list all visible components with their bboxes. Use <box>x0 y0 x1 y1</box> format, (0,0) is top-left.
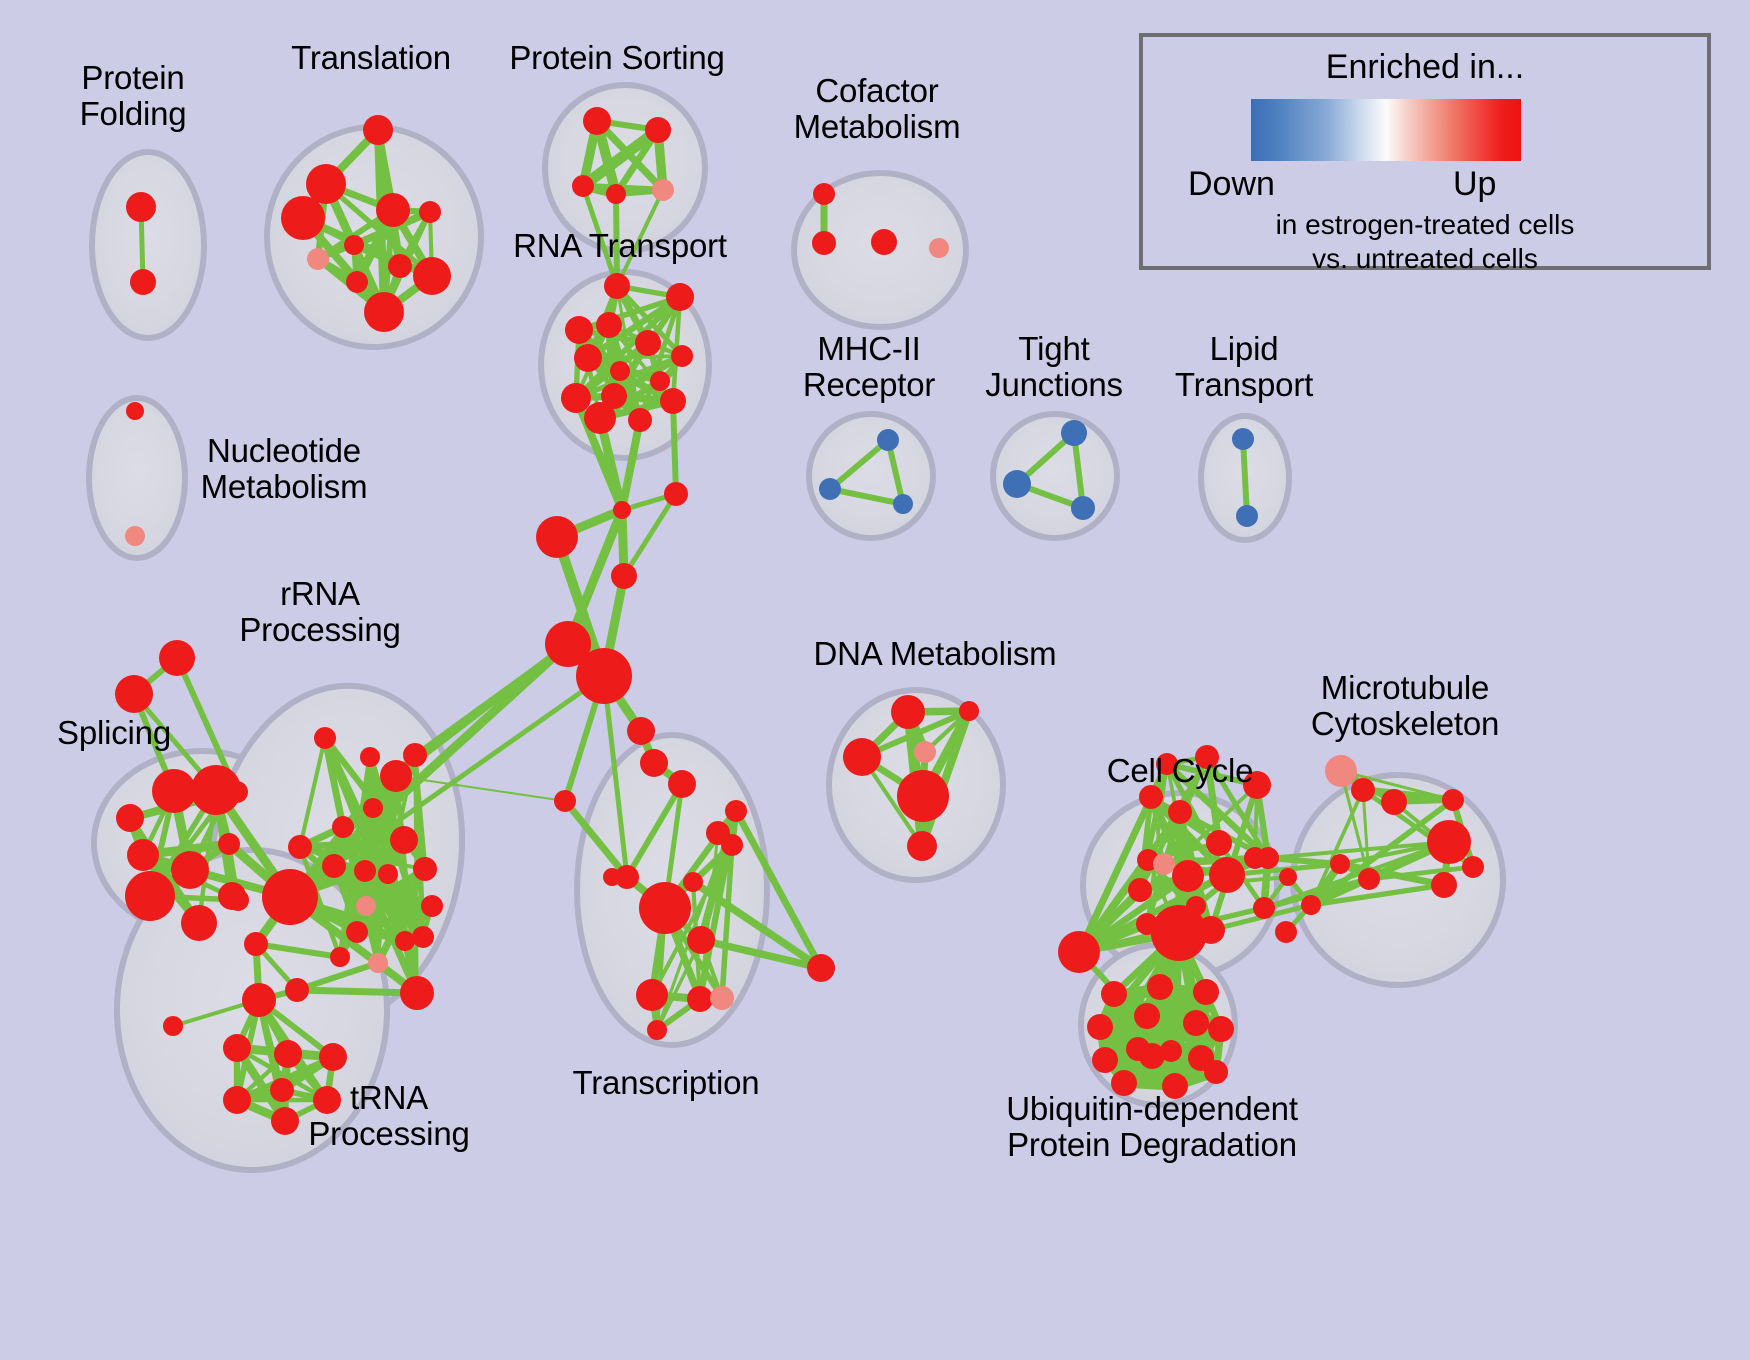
network-node[interactable] <box>554 790 576 812</box>
network-node[interactable] <box>1358 868 1380 890</box>
network-node[interactable] <box>152 769 196 813</box>
network-node[interactable] <box>314 727 336 749</box>
network-node[interactable] <box>288 835 312 859</box>
network-node[interactable] <box>1147 974 1173 1000</box>
network-node[interactable] <box>1111 1070 1137 1096</box>
network-node[interactable] <box>813 183 835 205</box>
network-node[interactable] <box>1427 820 1471 864</box>
network-node[interactable] <box>1126 1037 1150 1061</box>
network-node[interactable] <box>664 482 688 506</box>
network-node[interactable] <box>413 857 437 881</box>
network-node[interactable] <box>363 115 393 145</box>
network-node[interactable] <box>561 383 591 413</box>
network-node[interactable] <box>319 1043 347 1071</box>
cluster-ellipse-protein-sorting <box>545 85 705 251</box>
network-node[interactable] <box>1195 745 1219 769</box>
network-node[interactable] <box>1058 931 1100 973</box>
network-node[interactable] <box>1061 420 1087 446</box>
network-node[interactable] <box>1071 496 1095 520</box>
network-node[interactable] <box>897 770 949 822</box>
network-edge <box>297 990 417 993</box>
network-node[interactable] <box>226 781 248 803</box>
network-node[interactable] <box>1462 856 1484 878</box>
network-node[interactable] <box>891 695 925 729</box>
network-node[interactable] <box>871 229 897 255</box>
network-node[interactable] <box>611 563 637 589</box>
legend-down-label: Down <box>1188 165 1275 204</box>
network-node[interactable] <box>1206 830 1232 856</box>
network-node[interactable] <box>223 1086 251 1114</box>
network-node[interactable] <box>603 868 621 886</box>
network-node[interactable] <box>130 269 156 295</box>
network-node[interactable] <box>647 1020 667 1040</box>
network-node[interactable] <box>413 257 451 295</box>
network-node[interactable] <box>929 238 949 258</box>
network-edge <box>673 401 676 494</box>
network-node[interactable] <box>627 717 655 745</box>
network-node[interactable] <box>660 388 686 414</box>
network-node[interactable] <box>877 429 899 451</box>
network-node[interactable] <box>1442 789 1464 811</box>
network-node[interactable] <box>360 747 380 767</box>
network-node[interactable] <box>171 851 209 889</box>
network-node[interactable] <box>395 931 415 951</box>
network-node[interactable] <box>125 526 145 546</box>
network-node[interactable] <box>1139 785 1163 809</box>
network-edge <box>588 356 682 358</box>
network-node[interactable] <box>819 478 841 500</box>
network-node[interactable] <box>1232 428 1254 450</box>
network-node[interactable] <box>668 770 696 798</box>
network-node[interactable] <box>640 749 668 777</box>
network-node[interactable] <box>322 854 346 878</box>
network-node[interactable] <box>914 741 936 763</box>
network-node[interactable] <box>1301 895 1321 915</box>
network-node[interactable] <box>652 179 674 201</box>
network-node[interactable] <box>650 371 670 391</box>
network-node[interactable] <box>1134 1003 1160 1029</box>
color-gradient-bar <box>1251 99 1521 161</box>
network-node[interactable] <box>565 316 593 344</box>
network-node[interactable] <box>285 978 309 1002</box>
network-node[interactable] <box>807 954 835 982</box>
legend-subtitle-line1: in estrogen-treated cells <box>1143 209 1707 241</box>
network-node[interactable] <box>181 905 217 941</box>
network-node[interactable] <box>227 889 249 911</box>
network-node[interactable] <box>576 648 632 704</box>
network-node[interactable] <box>1156 753 1178 775</box>
network-node[interactable] <box>126 192 156 222</box>
network-node[interactable] <box>412 926 434 948</box>
network-node[interactable] <box>270 1078 294 1102</box>
network-node[interactable] <box>893 494 913 514</box>
network-node[interactable] <box>364 292 404 332</box>
network-node[interactable] <box>1275 921 1297 943</box>
network-node[interactable] <box>683 872 703 892</box>
network-node[interactable] <box>1236 505 1258 527</box>
network-edge <box>1243 439 1247 516</box>
network-node[interactable] <box>127 839 159 871</box>
network-node[interactable] <box>639 882 691 934</box>
network-node[interactable] <box>572 175 594 197</box>
network-node[interactable] <box>959 701 979 721</box>
network-node[interactable] <box>687 986 713 1012</box>
legend-box: Enriched in... Down Up in estrogen-treat… <box>1139 33 1711 270</box>
network-node[interactable] <box>163 1016 183 1036</box>
network-node[interactable] <box>583 107 611 135</box>
network-node[interactable] <box>610 361 630 381</box>
network-node[interactable] <box>1257 847 1279 869</box>
network-node[interactable] <box>346 271 368 293</box>
network-node[interactable] <box>356 896 376 916</box>
legend-up-label: Up <box>1453 165 1496 204</box>
network-node[interactable] <box>1183 1010 1209 1036</box>
network-node[interactable] <box>1128 878 1152 902</box>
network-edge <box>616 194 617 286</box>
network-node[interactable] <box>574 344 602 372</box>
network-node[interactable] <box>274 1040 302 1068</box>
cluster-ellipse-protein-folding <box>92 152 204 338</box>
network-node[interactable] <box>1092 1047 1118 1073</box>
network-node[interactable] <box>687 926 715 954</box>
network-node[interactable] <box>1325 755 1357 787</box>
network-node[interactable] <box>378 864 398 884</box>
network-node[interactable] <box>721 834 743 856</box>
network-node[interactable] <box>1172 860 1204 892</box>
network-node[interactable] <box>666 283 694 311</box>
network-node[interactable] <box>1162 1073 1188 1099</box>
network-node[interactable] <box>613 501 631 519</box>
network-node[interactable] <box>1087 1014 1113 1040</box>
network-node[interactable] <box>400 976 434 1010</box>
network-node[interactable] <box>671 345 693 367</box>
network-node[interactable] <box>330 947 350 967</box>
network-node[interactable] <box>421 895 443 917</box>
network-node[interactable] <box>126 402 144 420</box>
network-node[interactable] <box>606 184 626 204</box>
network-node[interactable] <box>313 1086 341 1114</box>
network-node[interactable] <box>363 798 383 818</box>
network-node[interactable] <box>636 979 668 1011</box>
network-node[interactable] <box>1204 1060 1228 1084</box>
network-node[interactable] <box>1209 857 1245 893</box>
legend-title: Enriched in... <box>1143 48 1707 87</box>
network-node[interactable] <box>388 254 412 278</box>
network-node[interactable] <box>419 201 441 223</box>
network-node[interactable] <box>1253 897 1275 919</box>
network-node[interactable] <box>1003 470 1031 498</box>
network-node[interactable] <box>346 921 368 943</box>
network-node[interactable] <box>218 833 240 855</box>
network-node[interactable] <box>242 983 276 1017</box>
network-node[interactable] <box>354 860 376 882</box>
network-node[interactable] <box>1431 872 1457 898</box>
network-node[interactable] <box>376 193 410 227</box>
network-node[interactable] <box>368 953 388 973</box>
network-node[interactable] <box>584 402 616 434</box>
network-node[interactable] <box>1351 778 1375 802</box>
network-node[interactable] <box>271 1107 299 1135</box>
network-node[interactable] <box>604 273 630 299</box>
network-node[interactable] <box>596 312 622 338</box>
network-node[interactable] <box>344 235 364 255</box>
network-node[interactable] <box>223 1034 251 1062</box>
network-node[interactable] <box>332 816 354 838</box>
network-node[interactable] <box>1153 853 1175 875</box>
network-node[interactable] <box>645 117 671 143</box>
network-node[interactable] <box>725 800 747 822</box>
enrichment-map-figure: Protein FoldingTranslationProtein Sortin… <box>0 0 1750 1360</box>
network-edge <box>415 644 568 755</box>
network-node[interactable] <box>1279 868 1297 886</box>
network-node[interactable] <box>1381 789 1407 815</box>
network-node[interactable] <box>1193 979 1219 1005</box>
network-node[interactable] <box>812 231 836 255</box>
network-node[interactable] <box>1208 1016 1234 1042</box>
network-node[interactable] <box>1197 916 1225 944</box>
network-node[interactable] <box>125 871 175 921</box>
legend-subtitle-line2: vs. untreated cells <box>1143 243 1707 275</box>
network-node[interactable] <box>159 640 195 676</box>
network-node[interactable] <box>307 248 329 270</box>
network-node[interactable] <box>628 408 652 432</box>
network-node[interactable] <box>116 804 144 832</box>
network-node[interactable] <box>710 986 734 1010</box>
network-node[interactable] <box>1330 854 1350 874</box>
network-node[interactable] <box>843 738 881 776</box>
network-node[interactable] <box>403 743 427 767</box>
network-node[interactable] <box>1168 800 1192 824</box>
network-node[interactable] <box>262 869 318 925</box>
network-node[interactable] <box>281 196 325 240</box>
network-node[interactable] <box>1101 981 1127 1007</box>
network-node[interactable] <box>536 516 578 558</box>
network-node[interactable] <box>635 330 661 356</box>
network-node[interactable] <box>380 760 412 792</box>
network-node[interactable] <box>390 826 418 854</box>
network-node[interactable] <box>244 932 268 956</box>
network-node[interactable] <box>1243 771 1271 799</box>
network-node[interactable] <box>907 831 937 861</box>
network-node[interactable] <box>115 675 153 713</box>
cluster-ellipse-mhc-ii-receptor <box>809 414 933 538</box>
